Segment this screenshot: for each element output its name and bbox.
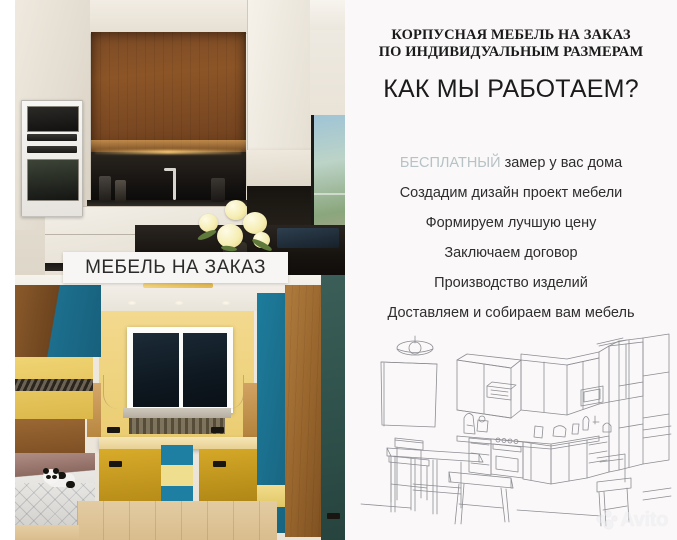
kettle [115, 180, 126, 202]
stove-sketch [491, 438, 523, 478]
lower-cabinets-right-sketch [523, 436, 609, 484]
power-outlet-icon [109, 461, 122, 467]
built-in-oven-stack [21, 100, 83, 217]
bunk-bed-upper [15, 357, 93, 419]
desk-panel-left [99, 449, 161, 501]
furniture-on-order-badge: МЕБЕЛЬ НА ЗАКАЗ [63, 252, 288, 283]
wall-shelving-sketch [597, 334, 671, 500]
bench-sketch [449, 472, 513, 524]
faucet-icon [173, 168, 176, 200]
free-highlight: БЕСПЛАТНЫЙ [400, 155, 501, 171]
list-item: Заключаем договор [345, 238, 677, 268]
step-text: Заключаем договор [444, 245, 577, 261]
children-bedroom-photo[interactable] [15, 275, 345, 540]
headline-line-2: ПО ИНДИВИДУАЛЬНЫМ РАЗМЕРАМ [345, 44, 677, 61]
counter-items-sketch [464, 413, 611, 438]
pendant-lamp-sketch [397, 336, 433, 355]
window-sill [123, 408, 231, 418]
info-column: КОРПУСНАЯ МЕБЕЛЬ НА ЗАКАЗ ПО ИНДИВИДУАЛЬ… [345, 0, 677, 540]
spotlight-icon [128, 301, 136, 305]
island-glass-panel [277, 228, 339, 248]
wooden-floor [77, 501, 277, 540]
badge-label: МЕБЕЛЬ НА ЗАКАЗ [85, 257, 266, 279]
step-text: Формируем лучшую цену [426, 215, 597, 231]
microwave-window [27, 106, 79, 132]
walnut-wood-panel [91, 32, 246, 154]
wood-column [285, 285, 325, 537]
step-text: Производство изделий [434, 275, 588, 291]
wooden-floor [15, 525, 79, 540]
power-outlet-icon [213, 461, 226, 467]
upper-cabinet-unit [90, 0, 250, 34]
bedroom-scene [15, 275, 345, 540]
headline-block: КОРПУСНАЯ МЕБЕЛЬ НА ЗАКАЗ ПО ИНДИВИДУАЛЬ… [345, 27, 677, 104]
oven-control-bar [27, 134, 77, 141]
list-item: Доставляем и собираем вам мебель [345, 298, 677, 328]
list-item: Создадим дизайн проект мебели [345, 178, 677, 208]
extractor-hood-sketch [487, 382, 516, 400]
power-outlet-icon [327, 513, 340, 519]
floor-line-sketch [361, 504, 411, 508]
desk-drawer-unit [161, 445, 193, 507]
upper-wardrobe-left [15, 285, 101, 357]
under-cabinet-light [95, 150, 241, 154]
oven-window [27, 159, 79, 201]
desk-panel-right [199, 449, 257, 501]
oven-control-bar [27, 146, 77, 153]
floor-line-sketch [517, 510, 601, 516]
stool-sketch [597, 454, 631, 526]
spotlight-icon [222, 301, 230, 305]
teal-wall [321, 275, 345, 540]
page-title: КАК МЫ РАБОТАЕМ? [345, 75, 677, 104]
extractor-hood [247, 150, 319, 186]
power-outlet-icon [211, 427, 224, 433]
panda-plush-toy [43, 469, 77, 489]
list-item: БЕСПЛАТНЫЙ замер у вас дома [345, 148, 677, 178]
step-text: Доставляем и собираем вам мебель [388, 305, 635, 321]
right-open-shelf [243, 383, 257, 437]
list-item: Формируем лучшую цену [345, 208, 677, 238]
upper-cabinets-sketch [457, 342, 643, 418]
wall-panel-sketch [381, 362, 437, 427]
bedroom-window [127, 327, 233, 413]
coffee-machine [99, 176, 111, 202]
sketch-svg [351, 332, 677, 532]
steps-list: БЕСПЛАТНЫЙ замер у вас дома Создадим диз… [345, 148, 677, 328]
step-text: Создадим дизайн проект мебели [400, 185, 623, 201]
spotlight-icon [175, 301, 183, 305]
kitchen-scene [15, 0, 345, 275]
list-item: Производство изделий [345, 268, 677, 298]
kitchen-line-drawing [351, 332, 677, 532]
power-outlet-icon [107, 427, 120, 433]
modern-kitchen-photo[interactable] [15, 0, 345, 275]
photo-column: МЕБЕЛЬ НА ЗАКАЗ [0, 0, 345, 540]
chrysanthemum-bouquet [195, 198, 281, 256]
window-glass [133, 333, 227, 407]
headline-subtitle: КОРПУСНАЯ МЕБЕЛЬ НА ЗАКАЗ ПО ИНДИВИДУАЛЬ… [345, 27, 677, 61]
advert-card: МЕБЕЛЬ НА ЗАКАЗ КОРПУСНАЯ МЕБЕЛЬ НА ЗАКА… [0, 0, 677, 540]
tall-unit-sketch [581, 338, 643, 472]
step-text: замер у вас дома [501, 155, 623, 171]
hood-column [247, 0, 310, 150]
headline-line-1: КОРПУСНАЯ МЕБЕЛЬ НА ЗАКАЗ [345, 27, 677, 44]
ceiling-light-strip [143, 283, 213, 288]
